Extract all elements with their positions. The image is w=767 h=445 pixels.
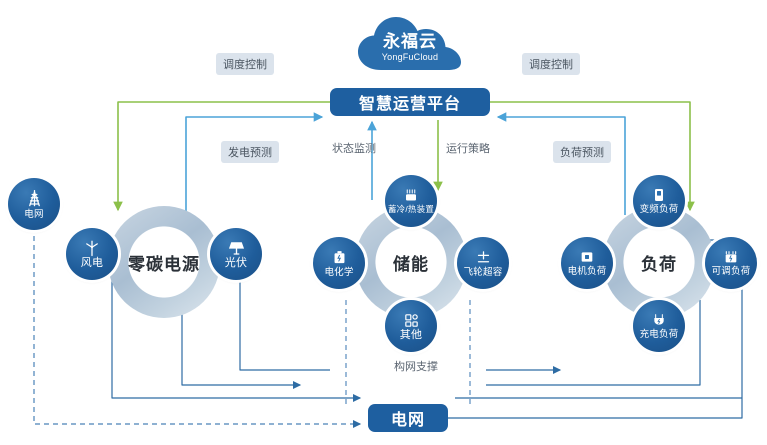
- node-other-storage[interactable]: 其他: [385, 300, 437, 352]
- label-dispatch-left: 调度控制: [216, 53, 274, 75]
- node-adjustable-label: 可调负荷: [712, 266, 751, 277]
- inverter-load-icon: [651, 187, 667, 203]
- battery-icon: [331, 249, 348, 266]
- node-grid-label: 电网: [24, 209, 43, 220]
- diagram-canvas: 永福云 YongFuCloud 智慧运营平台 电网 调度控制 调度控制 发电预测…: [0, 0, 767, 445]
- grid-bar[interactable]: 电网: [368, 404, 448, 432]
- node-adjustable-load[interactable]: 可调负荷: [705, 237, 757, 289]
- node-electrochemical[interactable]: 电化学: [313, 237, 365, 289]
- label-dispatch-right: 调度控制: [522, 53, 580, 75]
- label-operation-strategy: 运行策略: [446, 142, 474, 156]
- adjustable-load-icon: [723, 249, 739, 265]
- node-grid[interactable]: 电网: [8, 178, 60, 230]
- data-line-left: [186, 117, 322, 215]
- label-status-monitor: 状态监测: [332, 142, 360, 156]
- node-electrochemical-label: 电化学: [324, 267, 353, 278]
- motor-load-icon: [579, 249, 595, 265]
- platform-bar[interactable]: 智慧运营平台: [330, 88, 490, 116]
- grid-squares-icon: [403, 312, 420, 329]
- node-charging-load[interactable]: 充电负荷: [633, 300, 685, 352]
- solar-panel-icon: [227, 239, 246, 257]
- wind-turbine-icon: [83, 239, 101, 257]
- flywheel-icon: [475, 249, 492, 266]
- node-wind-label: 风电: [81, 258, 103, 269]
- node-charging-label: 充电负荷: [640, 329, 679, 340]
- label-load-forecast: 负荷预测: [553, 141, 611, 163]
- label-grid-forming: 构网支撑: [394, 360, 422, 374]
- thermal-storage-icon: [403, 188, 419, 203]
- yongfu-cloud-logo: 永福云 YongFuCloud: [355, 14, 465, 76]
- node-solar-pv[interactable]: 光伏: [210, 228, 262, 280]
- cloud-label-en: YongFuCloud: [382, 53, 438, 62]
- node-wind-power[interactable]: 风电: [66, 228, 118, 280]
- cloud-label-cn: 永福云: [383, 33, 437, 50]
- cluster-title-zero-carbon: 零碳电源: [108, 206, 220, 318]
- node-motor-load[interactable]: 电机负荷: [561, 237, 613, 289]
- charging-load-icon: [651, 312, 667, 328]
- node-thermal-storage[interactable]: 蓄冷/热装置: [385, 175, 437, 227]
- transmission-tower-icon: [25, 189, 44, 208]
- data-line-right: [498, 117, 625, 215]
- node-flywheel-supercap[interactable]: 飞轮超容: [457, 237, 509, 289]
- cluster-zero-carbon-power: 零碳电源: [108, 206, 220, 318]
- node-flywheel-label: 飞轮超容: [464, 267, 503, 278]
- node-inverter-load[interactable]: 变频负荷: [633, 175, 685, 227]
- node-motor-label: 电机负荷: [568, 266, 607, 277]
- node-inverter-label: 变频负荷: [640, 204, 679, 215]
- node-other-label: 其他: [400, 330, 422, 341]
- node-solar-label: 光伏: [225, 258, 247, 269]
- node-thermal-label: 蓄冷/热装置: [388, 204, 434, 214]
- label-generation-forecast: 发电预测: [221, 141, 279, 163]
